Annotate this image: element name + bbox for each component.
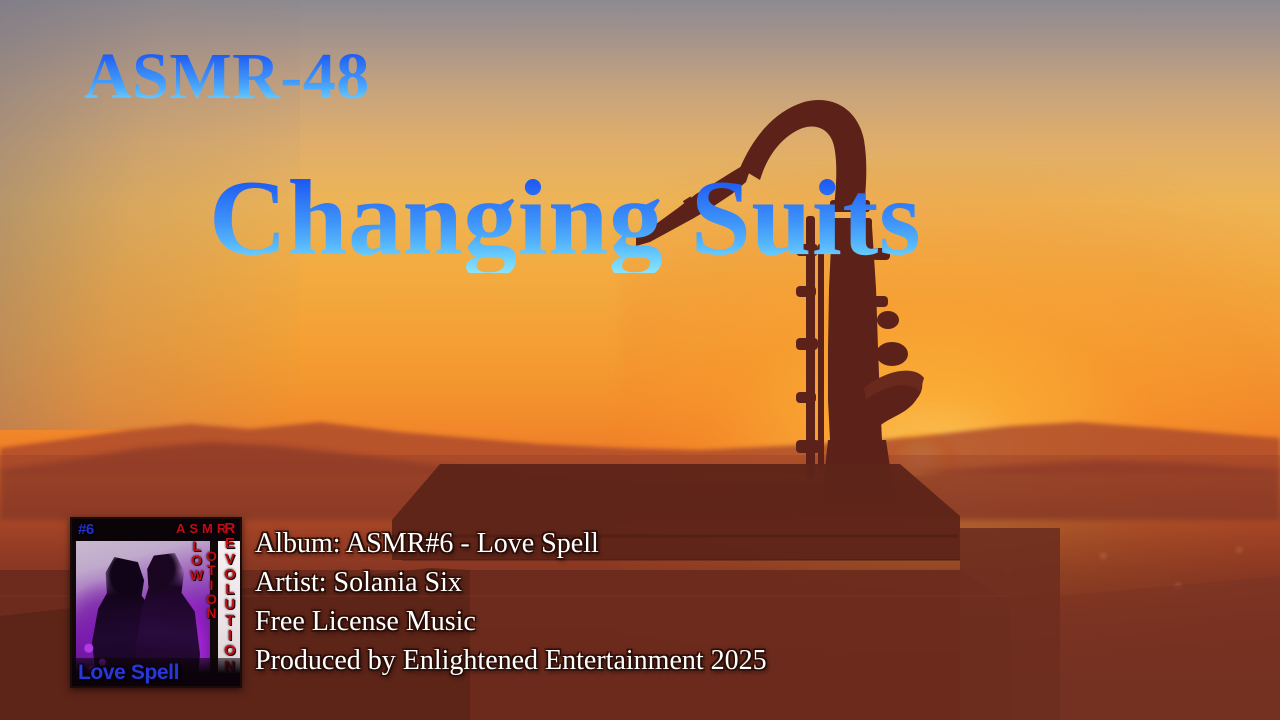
album-art-vertical-letter: E (224, 536, 236, 551)
album-art-vertical-letter: V (224, 552, 236, 567)
song-title: Changing Suits (209, 165, 921, 273)
album-art-vertical-letter: T (224, 613, 236, 628)
channel-brand-title: ASMR-48 (84, 44, 370, 110)
album-art-vertical-letter: U (224, 597, 236, 612)
album-art-issue-number: #6 (78, 521, 94, 538)
album-art-vertical-letter: O (224, 643, 236, 658)
album-art-vertical-otion: OTION (206, 549, 217, 620)
album-art-vertical-revolution: REVOLUTION (224, 521, 236, 674)
album-art-vertical-low: LOW (190, 539, 203, 582)
credits-artist-line: Artist: Solania Six (255, 563, 767, 602)
album-art-vertical-letter: R (224, 521, 236, 536)
album-art-vertical-letter: I (224, 628, 236, 643)
credits-license-line: Free License Music (255, 602, 767, 641)
album-art-asmr-label: ASMR (176, 521, 230, 536)
album-art-vertical-letter: O (190, 553, 203, 567)
credits-album-line: Album: ASMR#6 - Love Spell (255, 524, 767, 563)
album-art-vertical-letter: O (224, 567, 236, 582)
album-art-vertical-letter: L (190, 539, 203, 553)
album-art-vertical-letter: T (206, 563, 217, 577)
album-art-vertical-letter: N (206, 606, 217, 620)
credits-producer-line: Produced by Enlightened Entertainment 20… (255, 641, 767, 680)
album-art-vertical-letter: W (190, 568, 203, 582)
video-frame: ASMR-48 Changing Suits Album: ASMR#6 - L… (0, 0, 1280, 720)
credits-block: Album: ASMR#6 - Love Spell Artist: Solan… (255, 524, 767, 680)
album-art-vertical-letter: O (206, 549, 217, 563)
album-art-vertical-letter: O (206, 592, 217, 606)
album-art-vertical-letter: L (224, 582, 236, 597)
album-art-thumbnail: #6 ASMR LOW OTION REVOLUTION Love Spell (70, 517, 242, 688)
album-art-vertical-letter: I (206, 578, 217, 592)
album-art-title-label: Love Spell (78, 661, 179, 685)
